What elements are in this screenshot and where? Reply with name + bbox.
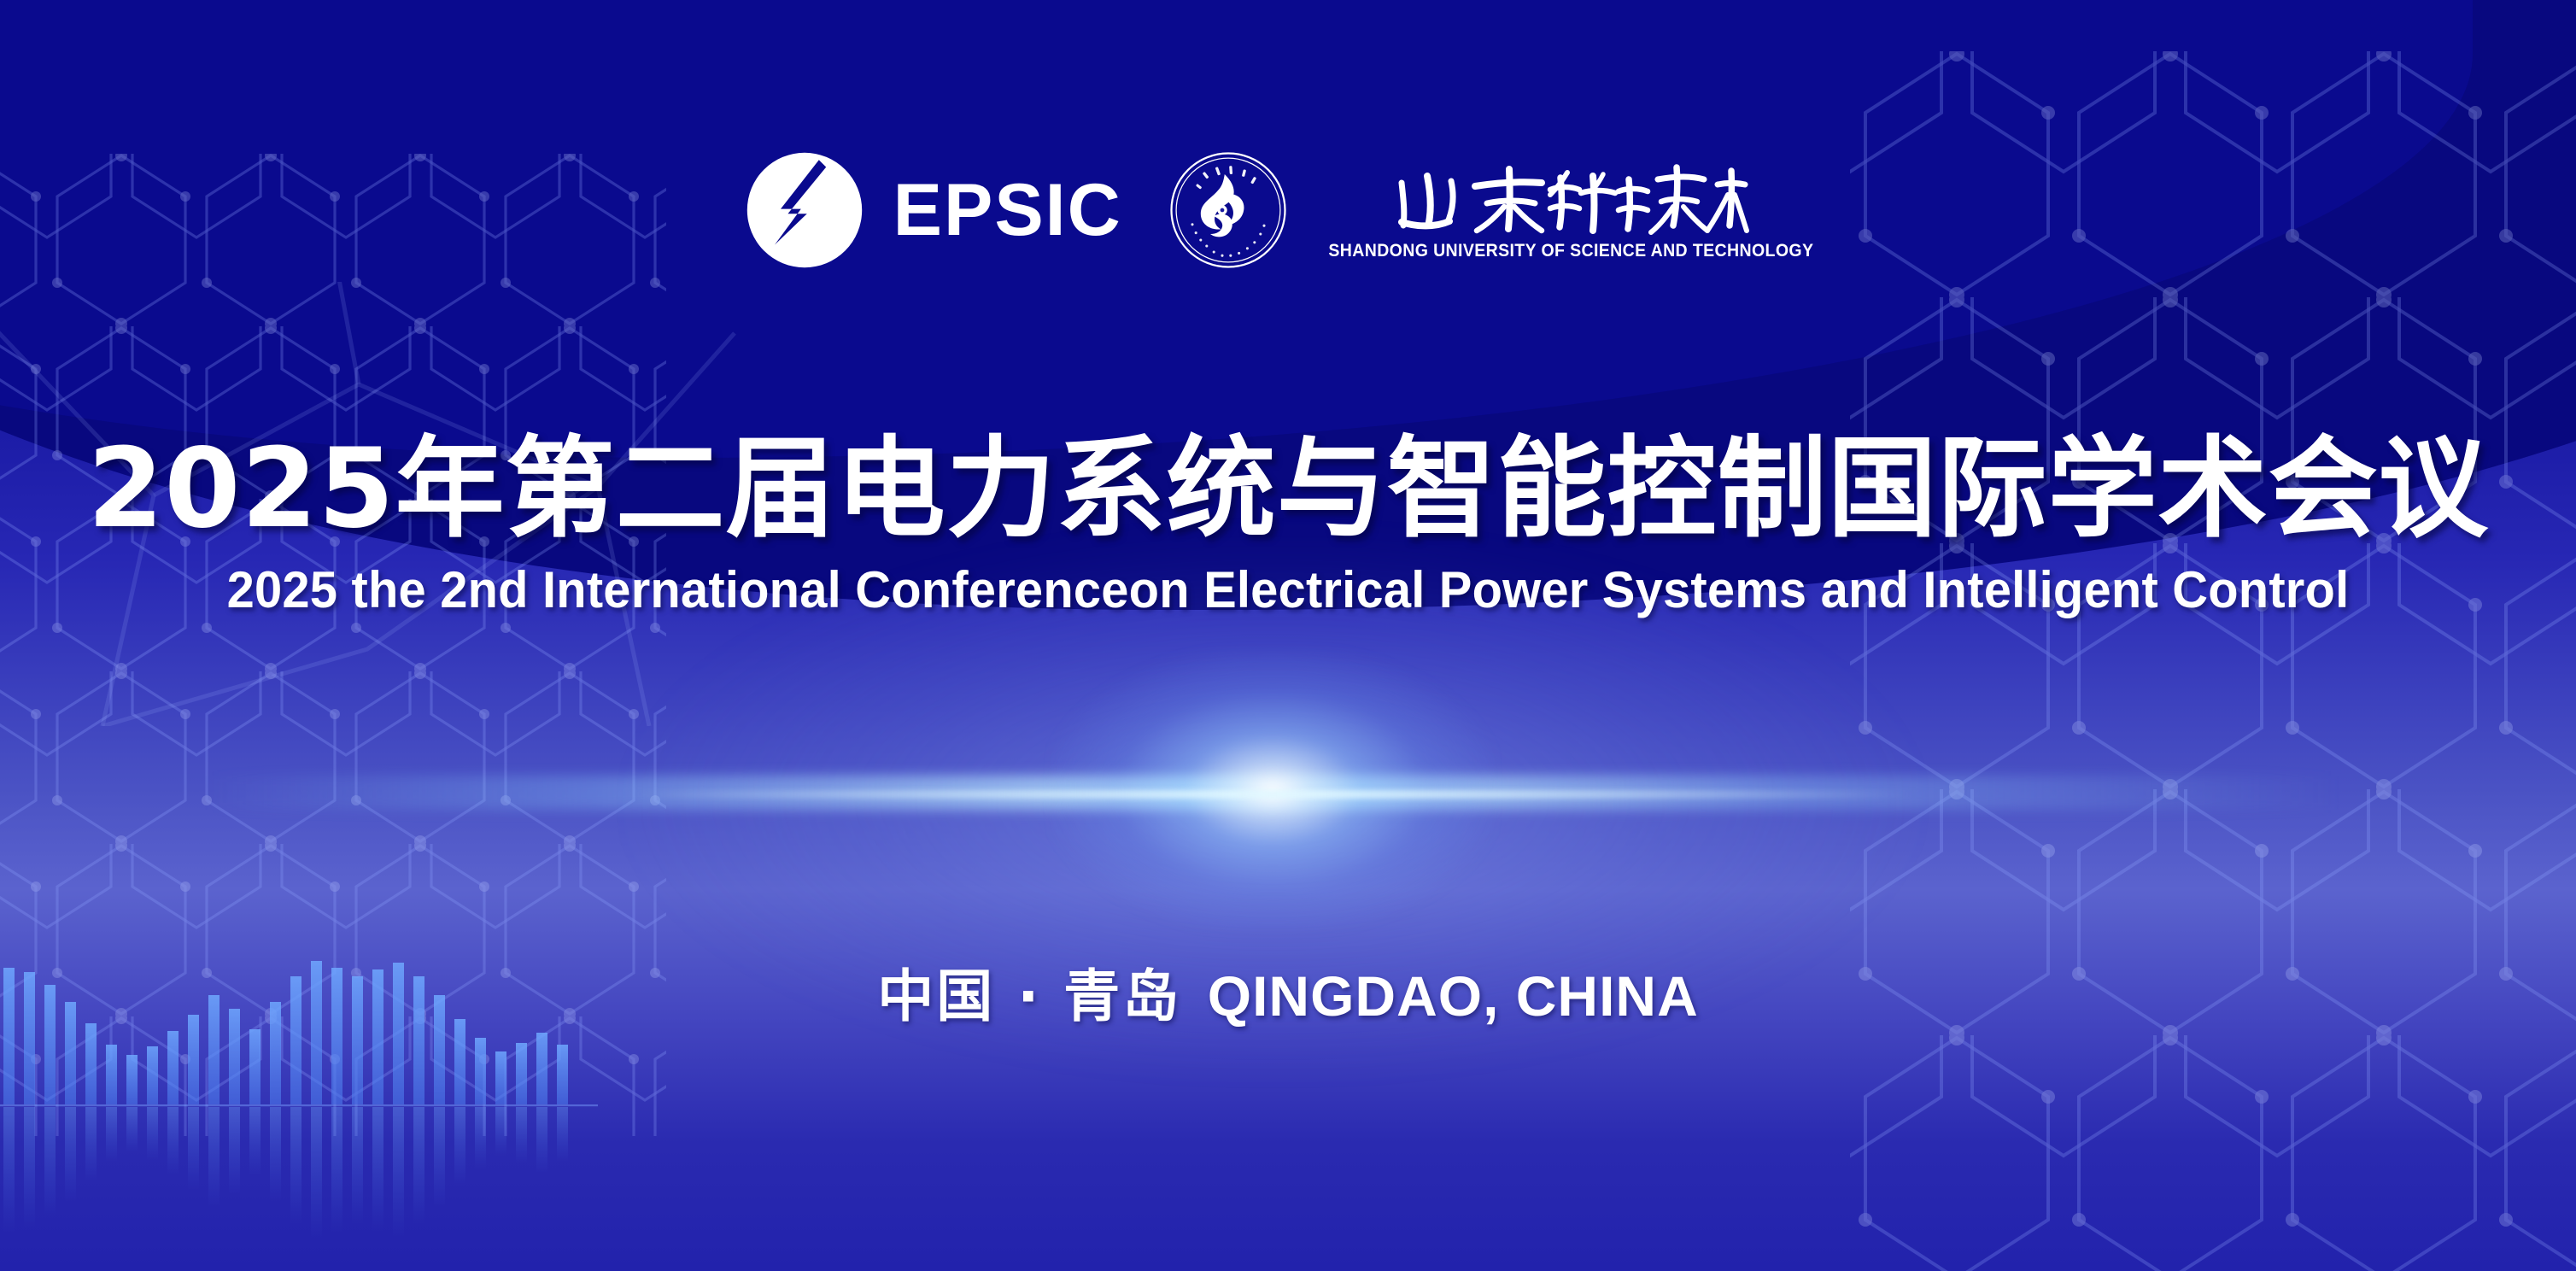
location-block: 中国 · 青岛 QINGDAO, CHINA (0, 951, 2576, 1033)
university-name-cn-strokes (1391, 159, 1750, 237)
university-name-block: SHANDONG UNIVERSITY OF SCIENCE AND TECHN… (1310, 159, 1832, 261)
epsic-wordmark: EPSIC (893, 173, 1122, 247)
university-logo-lockup: SHANDONG UNIVERSITY OF SCIENCE AND TECHN… (1168, 150, 1832, 270)
university-name-cn-calligraphy (1391, 159, 1750, 237)
conference-banner: EPSIC (0, 0, 2576, 1271)
university-name-en: SHANDONG UNIVERSITY OF SCIENCE AND TECHN… (1328, 241, 1813, 261)
logo-row: EPSIC (0, 150, 2576, 270)
conference-title-cn: 2025年第二届电力系统与智能控制国际学术会议 (0, 430, 2576, 548)
epsic-logo-lockup: EPSIC (745, 150, 1122, 270)
banner-content: EPSIC (0, 0, 2576, 1271)
location-cn: 中国 · 青岛 (877, 963, 1181, 1029)
headline-block: 2025年第二届电力系统与智能控制国际学术会议 2025 the 2nd Int… (0, 430, 2576, 619)
conference-title-en: 2025 the 2nd International Conferenceon … (45, 560, 2531, 619)
lightning-bolt-circle-icon (745, 150, 864, 270)
university-seal-icon (1168, 150, 1288, 270)
location-en: QINGDAO, CHINA (1208, 964, 1699, 1028)
